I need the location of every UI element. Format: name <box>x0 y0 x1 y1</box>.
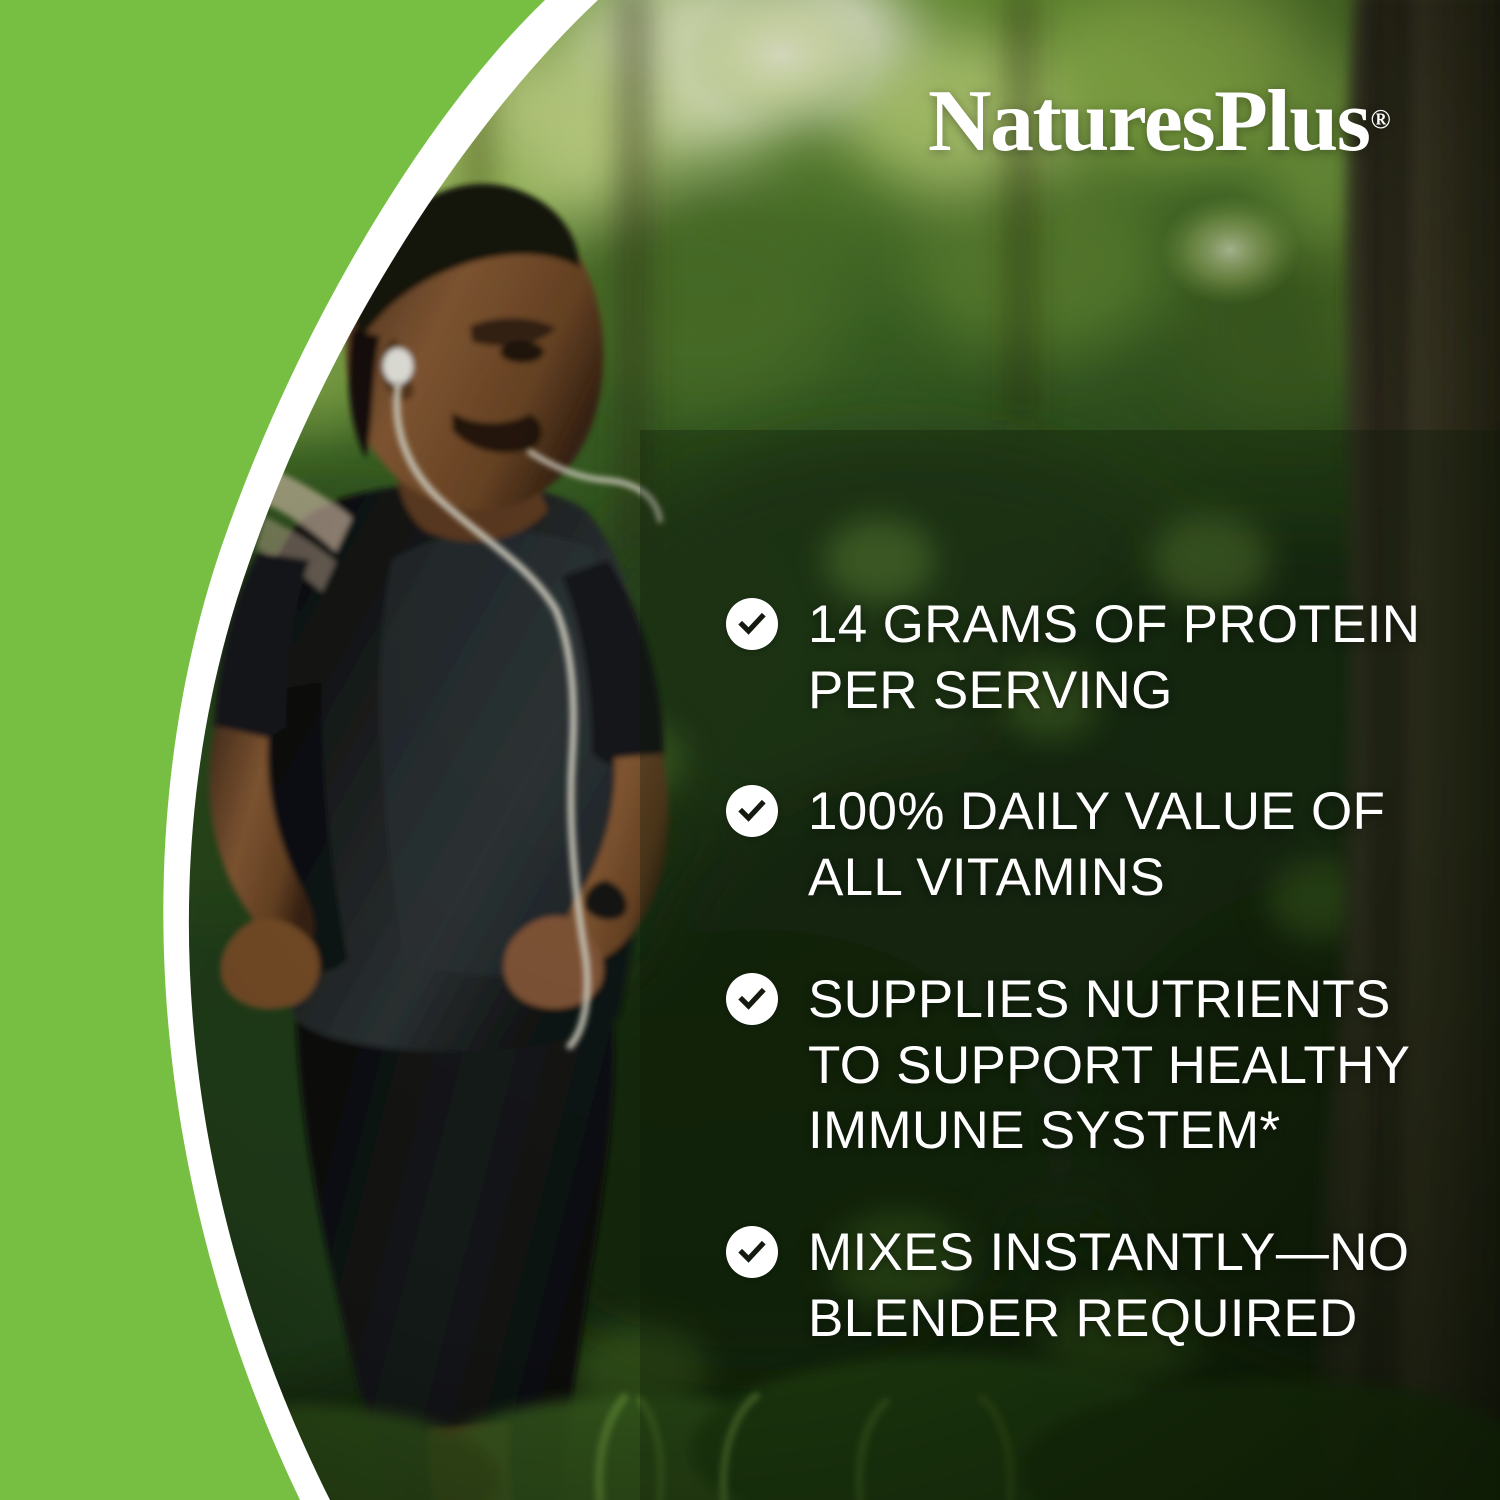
check-circle-icon <box>726 785 778 837</box>
marketing-hero-banner: NaturesPlus® 14 GRAMS OF PROTEIN PER SER… <box>0 0 1500 1500</box>
benefit-label: MIXES INSTANTLY—NO BLENDER REQUIRED <box>808 1220 1409 1351</box>
brand-logo: NaturesPlus® <box>928 78 1390 166</box>
benefit-label: 100% DAILY VALUE OF ALL VITAMINS <box>808 779 1385 910</box>
registered-trademark-icon: ® <box>1370 104 1390 134</box>
benefit-item: MIXES INSTANTLY—NO BLENDER REQUIRED <box>726 1220 1456 1351</box>
check-circle-icon <box>726 973 778 1025</box>
benefits-list: 14 GRAMS OF PROTEIN PER SERVING 100% DAI… <box>726 592 1456 1351</box>
benefit-item: 100% DAILY VALUE OF ALL VITAMINS <box>726 779 1456 910</box>
benefit-item: 14 GRAMS OF PROTEIN PER SERVING <box>726 592 1456 723</box>
check-circle-icon <box>726 1226 778 1278</box>
brand-logo-text: NaturesPlus <box>928 73 1369 170</box>
benefit-label: SUPPLIES NUTRIENTS TO SUPPORT HEALTHY IM… <box>808 967 1410 1164</box>
check-circle-icon <box>726 598 778 650</box>
benefit-item: SUPPLIES NUTRIENTS TO SUPPORT HEALTHY IM… <box>726 967 1456 1164</box>
benefit-label: 14 GRAMS OF PROTEIN PER SERVING <box>808 592 1420 723</box>
